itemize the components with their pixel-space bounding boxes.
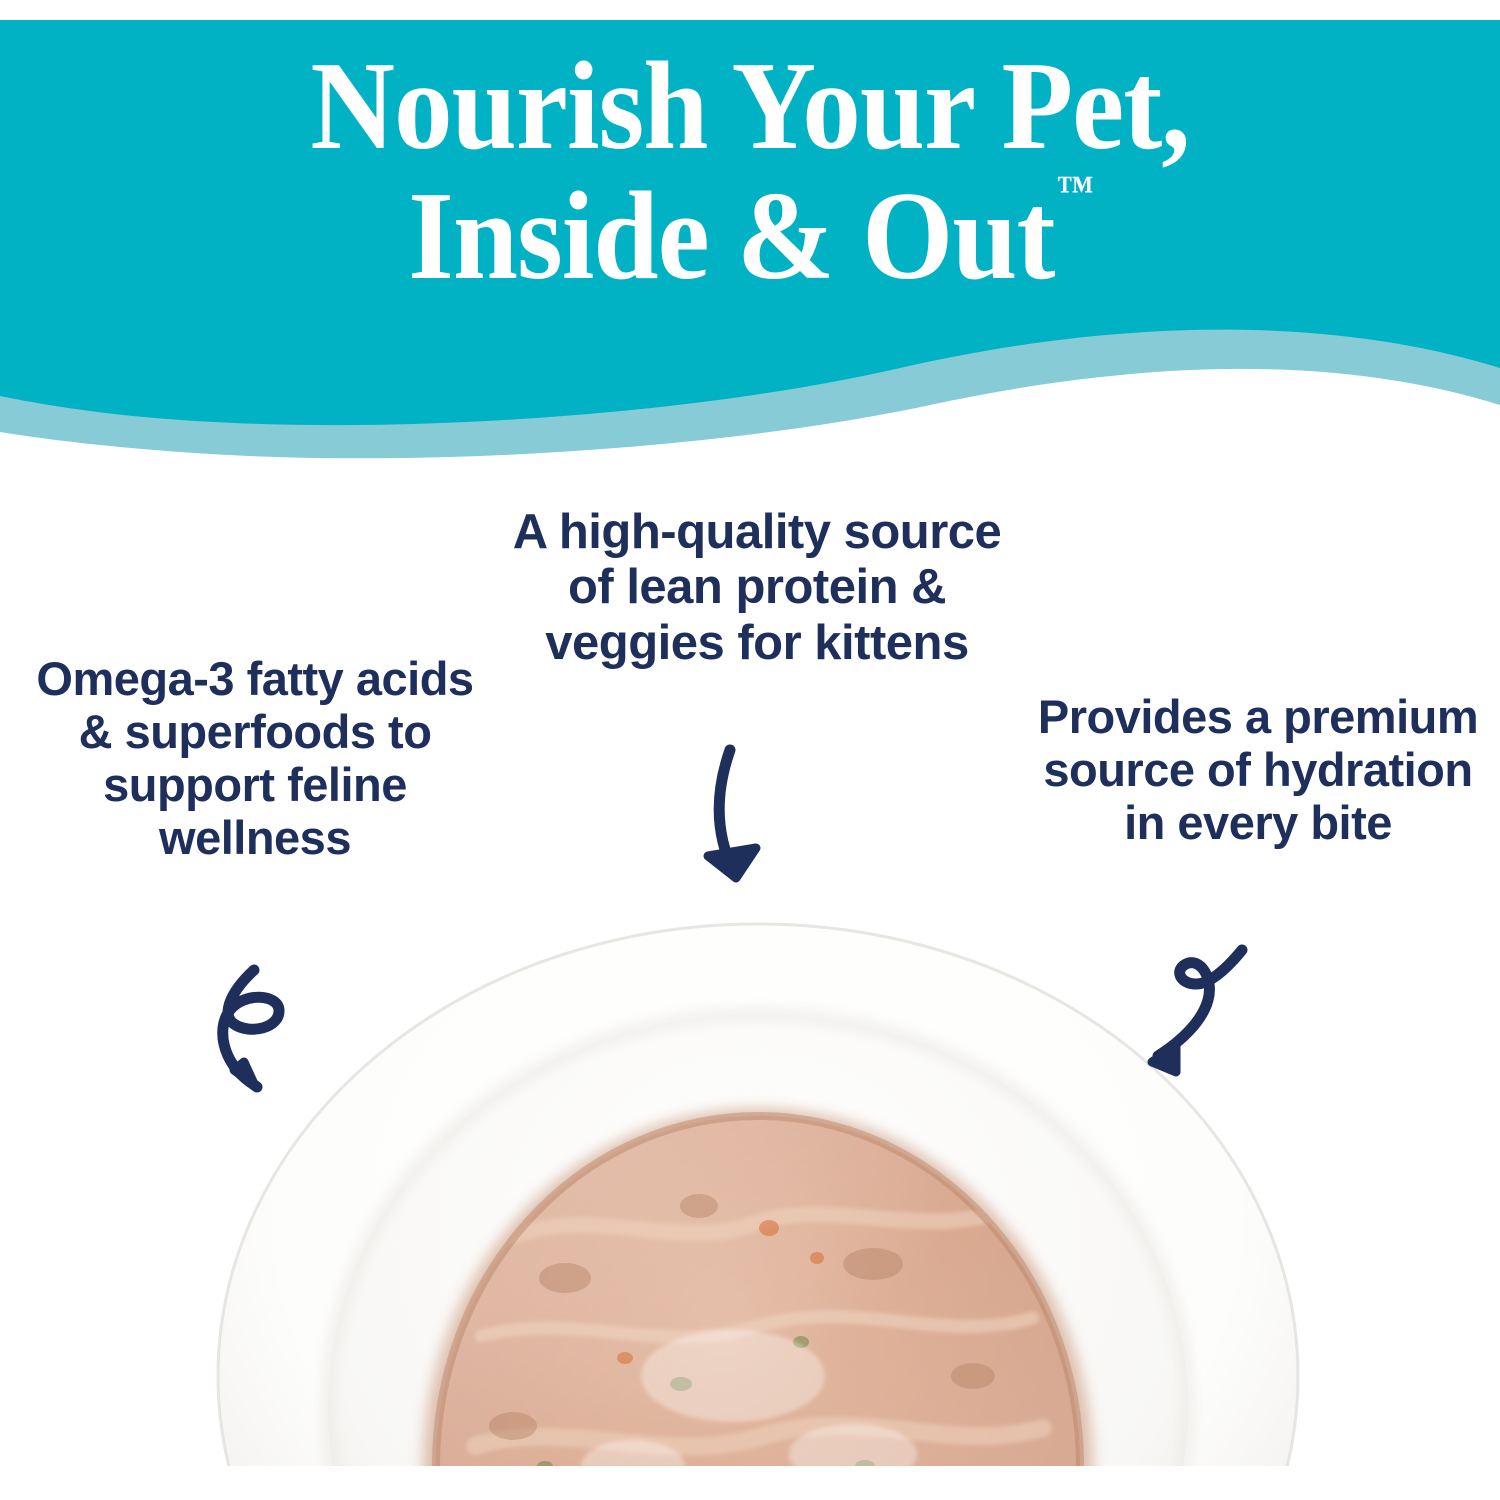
callout-hydration-text: Provides a premium source of hydration i…	[1028, 690, 1488, 849]
callout-lean-protein-text: A high-quality source of lean protein & …	[497, 505, 1017, 671]
curved-arrow-down-icon	[668, 736, 808, 906]
title-line-2: Inside & Out	[408, 167, 1054, 306]
callout-omega-3-text: Omega-3 fatty acids & superfoods to supp…	[35, 652, 475, 864]
curly-loop-arrow-down-left-icon	[1118, 938, 1258, 1088]
curly-loop-arrow-down-right-icon	[182, 958, 332, 1118]
title-line-2-wrap: Inside & Out™	[53, 172, 1448, 302]
trademark-symbol: ™	[1057, 167, 1094, 212]
title-line-1: Nourish Your Pet,	[53, 42, 1448, 172]
page-title: Nourish Your Pet, Inside & Out™	[53, 42, 1448, 302]
header-banner: Nourish Your Pet, Inside & Out™	[0, 0, 1500, 470]
